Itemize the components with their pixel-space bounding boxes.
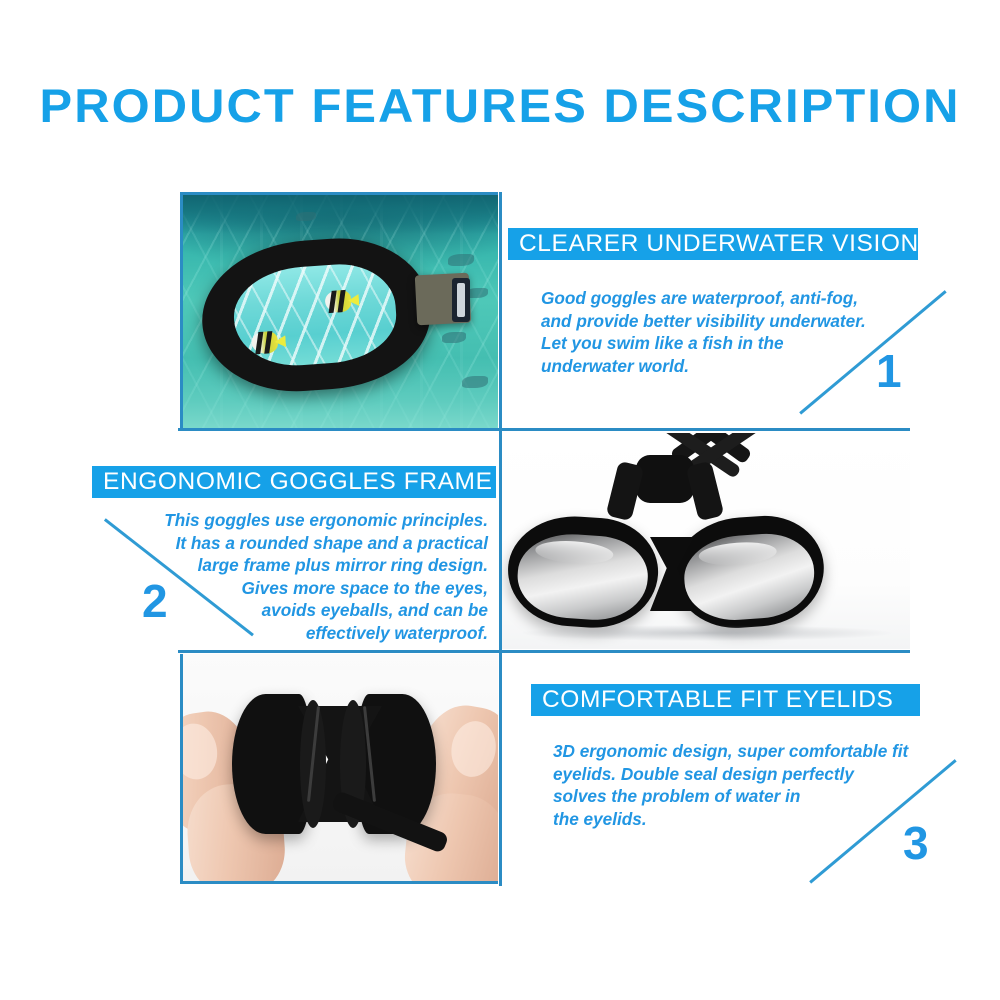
feature-image-fit-eyelids bbox=[180, 654, 498, 884]
infographic-page: PRODUCT FEATURES DESCRIPTION bbox=[0, 0, 1000, 1000]
background-fish-icon bbox=[448, 254, 474, 266]
page-title: PRODUCT FEATURES DESCRIPTION bbox=[0, 78, 1000, 133]
goggle-buckle bbox=[452, 278, 470, 322]
water-surface bbox=[180, 192, 498, 234]
feature-number-3: 3 bbox=[903, 820, 929, 866]
feature-heading-1: CLEARER UNDERWATER VISION bbox=[508, 228, 918, 260]
strap-center-clip bbox=[636, 455, 694, 503]
goggle-lens-view bbox=[231, 261, 399, 370]
product-shadow bbox=[522, 625, 892, 641]
mirrored-lens-right bbox=[682, 531, 818, 624]
feature-image-underwater-vision bbox=[180, 192, 498, 428]
background-fish-icon bbox=[296, 212, 316, 221]
feature-number-2: 2 bbox=[142, 578, 168, 624]
background-fish-icon bbox=[442, 332, 466, 343]
feature-heading-3: COMFORTABLE FIT EYELIDS bbox=[531, 684, 920, 716]
feature-image-goggles-frame bbox=[502, 433, 910, 649]
grid-divider-horizontal-bottom bbox=[178, 650, 910, 653]
mirrored-lens-left bbox=[515, 531, 651, 624]
feature-number-1: 1 bbox=[876, 348, 902, 394]
grid-divider-horizontal-top bbox=[178, 428, 910, 431]
feature-heading-2: ENGONOMIC GOGGLES FRAME bbox=[92, 466, 496, 498]
butterflyfish-icon bbox=[324, 289, 360, 315]
feature-body-1: Good goggles are waterproof, anti-fog, a… bbox=[541, 287, 921, 377]
butterflyfish-icon bbox=[251, 330, 287, 356]
background-fish-icon bbox=[462, 376, 488, 388]
